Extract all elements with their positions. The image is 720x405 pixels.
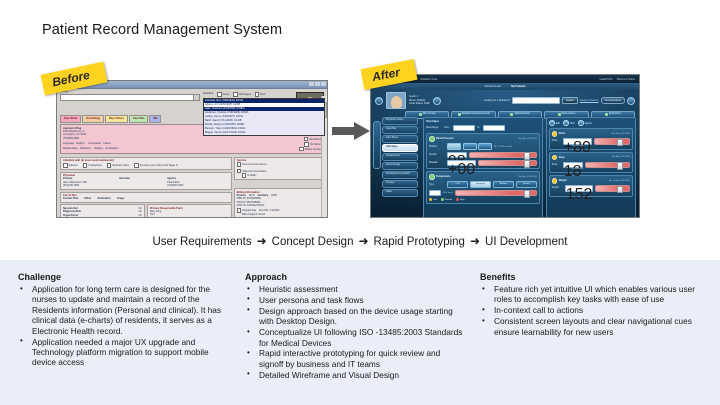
legacy-flag-value: No (139, 217, 142, 218)
bp-position-label: Position (429, 146, 445, 148)
modern-ribbon-my-patients[interactable]: My Patients (511, 85, 525, 88)
legacy-filter-discharged[interactable]: Discharged (233, 92, 251, 97)
modern-brand: HealthTech (600, 78, 613, 81)
approach-column: Approach Heuristic assessment User perso… (237, 260, 474, 405)
modern-content: Vital Signs Date Range: From To Blood Pr… (423, 117, 636, 218)
legacy-hospital-stay-value: 11/17/00 - 11/21/00 (259, 209, 279, 212)
slide: Patient Record Management System Facilit… (0, 0, 720, 405)
legacy-billing-section: Billing Information Primary MCD Auxiliar… (234, 188, 324, 218)
legend-high-label: High (460, 199, 465, 201)
legacy-admitted-heading: Admitted with (at most recent admission) (63, 159, 229, 162)
modern-sidebar: Physician Orders Care Plan Face Sheet Vi… (374, 117, 418, 197)
list-item: In-context call to actions (480, 305, 710, 315)
flow-step-3: Rapid Prototyping (374, 236, 465, 248)
temperature-legend: Low Normal High (429, 198, 537, 201)
bp-diastolic-label: Diastolic (429, 162, 445, 164)
temperature-card: Temperature By: Alex | 02/14/43 Type Ora… (426, 171, 540, 204)
legacy-religion-label: Religion (94, 147, 103, 150)
legacy-responsible-day: (319)871-0170 (156, 217, 172, 218)
legacy-chk-pressure-sores[interactable]: Pressure sores (other than Stage 1) (134, 163, 178, 168)
process-flow: User Requirements➜Concept Design➜Rapid P… (0, 234, 720, 248)
legacy-religion-value: No Religion (105, 147, 118, 150)
legacy-resident-label: Resident (203, 93, 213, 96)
status-dot-icon (552, 155, 558, 161)
benefits-heading: Benefits (480, 272, 710, 282)
modern-ribbon-tabs[interactable]: Clinical Center My Patients (371, 83, 639, 90)
vitals-right-panel: Edit Print Export Pulse By: Beth | 02/11… (546, 117, 636, 218)
list-item: Consistent screen layouts and clear navi… (480, 316, 710, 337)
temp-btn-rectal[interactable]: Rectal (516, 181, 537, 188)
resp-label: Resp (552, 164, 561, 166)
edit-action[interactable]: Edit (549, 120, 560, 126)
temp-unit: 98.6 deg F (443, 192, 453, 194)
status-dot-icon (429, 136, 435, 142)
legacy-chk-contractures-label: Contractures (88, 164, 102, 167)
legacy-chk-contractures[interactable]: Contractures (83, 163, 102, 168)
advanced-search-link[interactable]: Advanced Search (580, 99, 599, 102)
legacy-chk-restraint-label: Restraint orders (112, 164, 129, 167)
sidebar-item-vital-signs[interactable]: Vital Signs (382, 144, 418, 152)
legacy-occupation-value: Casino (103, 142, 111, 145)
date-range-label: Date Range: (426, 127, 442, 129)
legacy-flag-label: Isolation (63, 217, 73, 218)
bp-diastolic-input[interactable]: +00 (447, 160, 476, 167)
legacy-chk-restraint[interactable]: Restraint orders (107, 163, 130, 168)
legacy-filter-both-label: Both (260, 93, 265, 96)
bp-systolic-label: Systolic (429, 154, 445, 156)
legacy-physician-phone: (544)700-0881 (63, 184, 119, 187)
export-action-label: Export (585, 122, 592, 125)
flow-arrow-icon: ➜ (257, 234, 267, 248)
legend-normal-label: Normal (445, 199, 452, 201)
legacy-chk-catheter-label: Catheter (69, 164, 78, 167)
flow-step-2: Concept Design (272, 236, 354, 248)
print-icon (563, 120, 569, 126)
list-item: Heuristic assessment (245, 284, 464, 294)
approach-heading: Approach (245, 272, 464, 282)
bp-diastolic-slider[interactable] (478, 160, 537, 167)
pulse-meta: By: Beth | 02/11/43 (612, 133, 630, 135)
temp-meta: By: Alex | 02/14/43 (519, 176, 537, 178)
sidebar-item-nursing-documentation[interactable]: Nursing Documentation (382, 171, 418, 179)
list-item: Design approach based on the device usag… (245, 306, 464, 327)
legacy-agency-phone: (719)606-1660 (167, 184, 229, 187)
status-dot-icon (429, 174, 435, 180)
blood-pressure-card: Blood Pressure By: Alex | 02/13/43 Posit… (426, 133, 540, 169)
before-screenshot: Facility Resident Active Discharged Both… (56, 80, 328, 218)
legacy-billing-aux: MHB (271, 194, 277, 197)
flow-arrow-icon: ➜ (470, 234, 480, 248)
legacy-contact-plan-label: Contact Plan (63, 197, 78, 200)
legacy-resident-phone: (719)555-0881 (63, 137, 158, 140)
after-screenshot: Patient Record Administration Resident C… (370, 74, 640, 218)
bp-meta: By: Alex | 02/13/43 (519, 138, 537, 140)
legend-high: High (456, 198, 465, 201)
legacy-us-citizen-label: US Citizen (310, 143, 321, 146)
modern-nav-resident-care[interactable]: Resident Care (421, 78, 438, 81)
temp-type-label: Type (429, 184, 445, 186)
legacy-admitted-section: Admitted with (at most recent admission)… (60, 157, 232, 171)
bp-systolic-input[interactable]: 98 (447, 152, 467, 159)
legacy-dropdown-item[interactable]: Biagas, Vernie (10/27/1914) 4/04/A (204, 131, 324, 135)
legacy-tab-phys-orders[interactable]: Phys Orders (105, 115, 128, 123)
legacy-tab-md[interactable]: MD (149, 115, 161, 123)
legacy-facility-group: Facility (60, 91, 200, 101)
list-item: User persona and task flows (245, 295, 464, 305)
modern-search-bar: Looking for a Resident? Search Advanced … (484, 97, 635, 105)
legacy-marital-label: Marital status (63, 147, 78, 150)
list-item: Detailed Wireframe and Visual Design (245, 370, 464, 380)
status-dot-icon (552, 178, 558, 184)
modern-welcome-user[interactable]: Welcome Nurse (617, 78, 635, 81)
approach-list: Heuristic assessment User persona and ta… (245, 284, 464, 380)
legacy-filter-discharged-label: Discharged (239, 93, 251, 96)
date-to-label: To (477, 127, 481, 129)
panel-title: Vital Signs (426, 120, 439, 123)
flow-arrow-icon: ➜ (358, 234, 368, 248)
status-dot-icon (552, 131, 558, 137)
legend-normal: Normal (441, 198, 452, 201)
flow-step-1: User Requirements (153, 236, 252, 248)
legacy-chk-in-facility[interactable]: In facility (242, 173, 321, 178)
patient-code-status: Code Status: DNR (409, 102, 430, 106)
legacy-careplan-col-effect: Effect (84, 197, 91, 200)
bp-systolic-slider[interactable] (469, 152, 537, 159)
legacy-flags-grid: Special AlertNo Diagnosis RiskNo Organ D… (60, 204, 145, 218)
sidebar-item-alerts-flags[interactable]: Alerts & Flags (382, 162, 418, 170)
temp-btn-oral[interactable]: Oral (447, 181, 468, 188)
sidebar-item-therapy[interactable]: Therapy (382, 180, 418, 188)
legacy-out-patient-label: Out Patient (309, 138, 321, 141)
legacy-chk-pressure-label: Pressure sores (other than Stage 1) (140, 164, 178, 167)
sidebar-item-tasks[interactable]: Tasks (382, 189, 418, 197)
legacy-careplan-col-verification: Verification (97, 197, 110, 200)
modern-ribbon-clinical-center[interactable]: Clinical Center (484, 85, 501, 88)
weight-meta: By: Sandra | 02/11/43 (609, 180, 630, 182)
bp-unit: BP: 127/80 mmHG (494, 146, 512, 148)
page-title: Patient Record Management System (42, 22, 282, 38)
export-icon (578, 120, 584, 126)
bp-position-toggle[interactable] (447, 143, 492, 150)
legacy-careplan-section: Fast O Dier Contact Plan Effect Verifica… (60, 192, 232, 203)
legacy-physician-section: Physician Primary Allen Waterproof, MD (… (60, 172, 232, 190)
temp-btn-axillary[interactable]: Axillary (493, 181, 514, 188)
resp-title: Resp (559, 156, 565, 159)
legacy-resident-dropdown[interactable]: Acevedo, Eric (7/08/1941) 3/15/A Adams, … (203, 98, 325, 136)
challenge-heading: Challenge (18, 272, 227, 282)
pulse-slider[interactable] (594, 138, 630, 145)
weight-slider[interactable] (595, 185, 630, 192)
legacy-tab-ord-allergy[interactable]: Ord-Allergy (82, 115, 104, 123)
prev-patient-icon[interactable] (375, 97, 383, 105)
legacy-billing-id-3: MCD ID: 0334542T8C6A (237, 204, 321, 207)
search-label: Looking for a Resident? (484, 99, 510, 102)
pulse-title: Pulse (559, 132, 565, 135)
legacy-filter-active[interactable]: Active (217, 92, 229, 97)
search-button[interactable]: Search (562, 97, 578, 104)
legacy-chk-pneumococcal[interactable]: Pneumococcal vaccine (237, 162, 321, 167)
temp-input[interactable] (429, 190, 441, 197)
sidebar-item-face-sheet[interactable]: Face Sheet (382, 135, 418, 143)
legacy-language-label: Language (63, 142, 74, 145)
modern-main: Austin J Room: #16111 Code Status: DNR L… (371, 90, 639, 218)
weight-title: Weight (559, 179, 567, 182)
legacy-marital-value: Widowed (80, 147, 90, 150)
legacy-language-value: English (76, 142, 84, 145)
date-from-label: From (444, 127, 451, 129)
search-input[interactable] (512, 97, 560, 104)
weight-input[interactable]: 152 (565, 185, 594, 192)
temp-title: Temperature (436, 175, 450, 178)
flow-step-4: UI Development (485, 236, 567, 248)
legacy-filter-active-label: Active (223, 93, 230, 96)
sidebar-item-physician-orders[interactable]: Physician Orders (382, 117, 418, 125)
weight-card: Weight By: Sandra | 02/11/43 Weight 152 … (549, 175, 633, 197)
weight-label: Weight (552, 187, 563, 189)
next-patient-icon[interactable] (433, 97, 441, 105)
edit-action-label: Edit (556, 122, 560, 125)
legacy-careplan-col-usage: Usage (117, 197, 125, 200)
legacy-pneumococcal-label: Pneumococcal vaccine (242, 163, 266, 166)
legend-low-label: Low (433, 199, 437, 201)
legacy-vaccine-section: Vaccine Pneumococcal vaccine Influenza i… (234, 157, 324, 181)
sidebar-vertical-label (373, 121, 381, 169)
info-panel: Challenge Application for long term care… (0, 260, 720, 405)
legacy-tab-face-sheet[interactable]: Face Sheet (60, 115, 81, 123)
legacy-responsible-party: Primary Responsible Party Mary Ring Own … (147, 204, 232, 218)
pulse-card: Pulse By: Beth | 02/11/43 Pulse +80 beat… (549, 128, 633, 150)
export-action[interactable]: Export (578, 120, 592, 126)
edit-icon (549, 120, 555, 126)
list-item: Application for long term care is design… (18, 284, 227, 336)
help-icon[interactable] (627, 97, 635, 105)
vital-signs-panel: Vital Signs Date Range: From To Blood Pr… (423, 117, 543, 218)
transition-arrow (332, 122, 372, 140)
sidebar-item-assessments[interactable]: Assessments (382, 153, 418, 161)
temp-slider[interactable] (455, 190, 536, 197)
print-action[interactable]: Print (563, 120, 575, 126)
modern-patient-bar: Austin J Room: #16111 Code Status: DNR L… (371, 90, 639, 111)
resp-slider[interactable] (585, 162, 630, 169)
print-action-label: Print (570, 122, 575, 125)
pulse-label: Pulse (552, 140, 561, 142)
legacy-chk-catheter[interactable]: Catheter (63, 163, 78, 168)
patient-avatar (386, 92, 406, 109)
sidebar-item-care-plan[interactable]: Care Plan (382, 126, 418, 134)
legacy-facility-combo[interactable] (60, 94, 200, 101)
legend-low: Low (429, 198, 437, 201)
legacy-tab-care-plan[interactable]: Care Plan (129, 115, 149, 123)
legacy-body: Facility Resident Active Discharged Both… (57, 89, 327, 218)
challenge-list: Application for long term care is design… (18, 284, 227, 368)
legacy-influenza-label: Influenza immunization (242, 170, 266, 173)
list-item: Application needed a major UX upgrade an… (18, 337, 227, 368)
legacy-hospital-name: Willis Kingston South (242, 213, 321, 216)
list-item: Feature rich yet intuitive UI which enab… (480, 284, 710, 305)
legacy-filter-both[interactable]: Both (255, 92, 265, 97)
resp-meta: By: Alex | 02/11/43 (612, 156, 630, 158)
challenge-column: Challenge Application for long term care… (0, 260, 237, 405)
date-from-input[interactable] (453, 125, 475, 132)
legacy-hospital-stay-label: Hospital Stay (242, 209, 256, 212)
temp-btn-tympanic[interactable]: Tympanic (470, 181, 491, 188)
legacy-occupation-label: Occupation (88, 142, 101, 145)
legacy-window-buttons[interactable] (309, 82, 326, 86)
benefits-column: Benefits Feature rich yet intuitive UI w… (474, 260, 720, 405)
benefits-list: Feature rich yet intuitive UI which enab… (480, 284, 710, 337)
pulse-input[interactable]: +80 (563, 138, 592, 145)
legacy-alternate-label: Alternate (119, 177, 167, 180)
date-to-input[interactable] (483, 125, 505, 132)
legacy-military-label: Military Service (305, 148, 321, 151)
view-residents-button[interactable]: View Residents (601, 97, 625, 104)
list-item: Conceptualize UI following ISO -13485:20… (245, 327, 464, 348)
legacy-in-facility-label: In facility (247, 174, 256, 177)
list-item: Rapid interactive prototyping for quick … (245, 348, 464, 369)
bp-title: Blood Pressure (436, 137, 454, 140)
